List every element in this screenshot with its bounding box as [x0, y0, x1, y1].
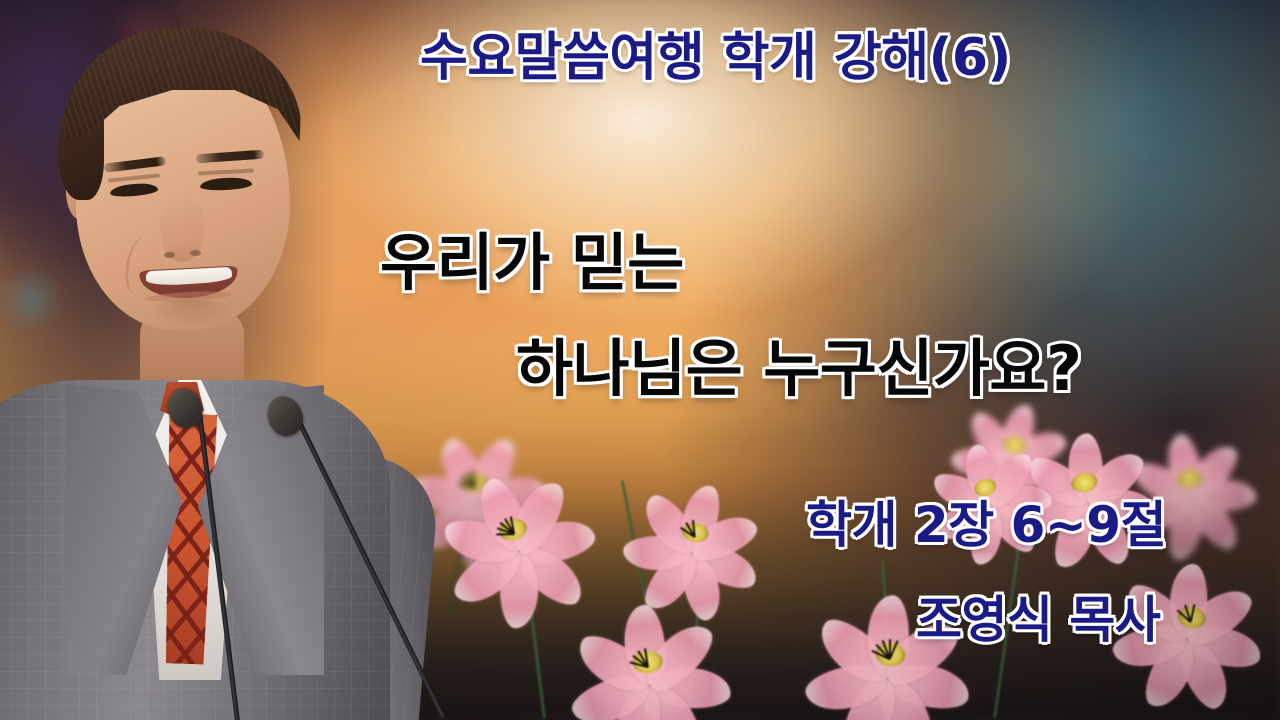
sermon-title-line-2: 하나님은 누구신가요? [516, 338, 1081, 400]
chin-shadow [146, 300, 238, 326]
scripture-reference: 학개 2장 6~9절 [806, 500, 1166, 550]
speaker-name: 조영식 목사 [916, 595, 1160, 645]
nostril-right [190, 250, 201, 256]
sermon-title-line-1: 우리가 믿는 [380, 232, 684, 294]
speaker-photo [0, 0, 420, 720]
series-title: 수요말씀여행 학개 강해(6) [420, 32, 1011, 84]
sermon-title-slide: 수요말씀여행 학개 강해(6) 우리가 믿는 하나님은 누구신가요? 학개 2장… [0, 0, 1280, 720]
nostril-left [164, 252, 175, 258]
